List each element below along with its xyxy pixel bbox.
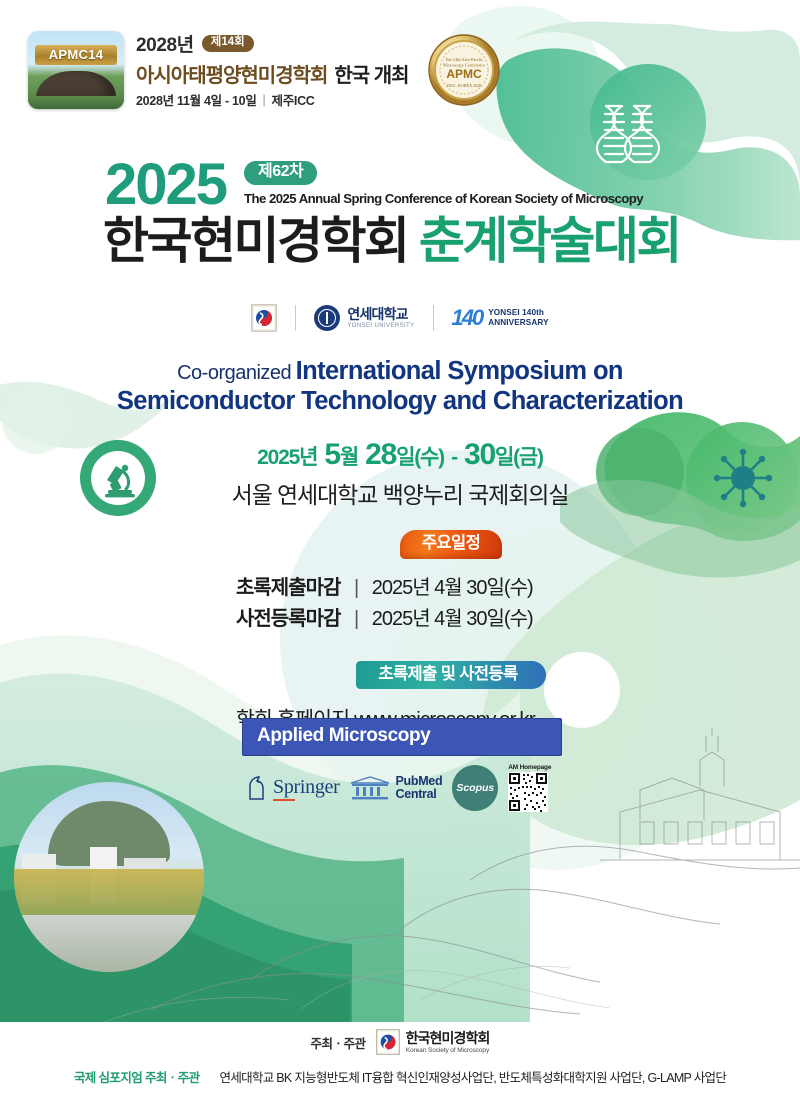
conference-edition-chip: 제62차 (244, 161, 317, 185)
footer-symposium-orgs: 연세대학교 BK 지능형반도체 IT융합 혁신인재양성사업단, 반도체특성화대학… (220, 1067, 727, 1086)
apmc14-edition-chip: 제14회 (202, 35, 254, 52)
yonsei-label-ko: 연세대학교 (347, 307, 414, 321)
event-date-start: 28 (365, 438, 396, 471)
footer-host-ko: 한국현미경학회 (406, 1031, 490, 1045)
springer-logo: Springer (246, 775, 339, 801)
yonsei-140th-logo: 140 YONSEI 140th ANNIVERSARY (452, 305, 549, 331)
conference-korean-title: 한국현미경학회 춘계학술대회 (0, 213, 800, 270)
apmc14-venue: 제주ICC (272, 90, 315, 109)
event-date-month: 5 (324, 438, 340, 471)
qr-block: AM Homepage (508, 764, 551, 812)
footer-symposium-label: 국제 심포지엄 주최ㆍ주관 (74, 1067, 200, 1086)
event-date-start-unit: 일(수) (396, 446, 444, 469)
footer-host-label: 주최ㆍ주관 (311, 1033, 366, 1052)
footer-host-en: Korean Society of Microscopy (406, 1047, 490, 1054)
conference-english-title: The 2025 Annual Spring Conference of Kor… (244, 191, 643, 206)
journal-index-logos: Springer PubMed (242, 764, 562, 812)
yonsei-140-number: 140 (452, 305, 483, 331)
conference-year: 2025 (105, 158, 226, 211)
qr-caption: AM Homepage (508, 764, 551, 771)
apmc14-society-name: 아시아태평양현미경학회 (136, 59, 327, 88)
campus-plaza (14, 915, 204, 972)
schedule-pill: 주요일정 (400, 530, 502, 559)
event-date-end: 30 (464, 438, 495, 471)
jeju-shore-shape (28, 96, 124, 109)
yonsei-140-line1: YONSEI 140th (488, 308, 548, 318)
springer-underline (273, 799, 295, 802)
symposium-line2: Semiconductor Technology and Characteriz… (0, 386, 800, 416)
schedule-row-value: 2025년 4월 30일(수) (372, 577, 533, 599)
apmc14-host: 한국 개최 (334, 59, 408, 88)
dna-helix-icon (597, 106, 659, 162)
apmc14-text-block: 2028년 제14회 아시아태평양현미경학회 한국 개최 2028년 11월 4… (136, 30, 409, 109)
schedule-row: 사전등록마감 | 2025년 4월 30일(수) (236, 604, 666, 635)
event-date-venue: 2025년 5월 28일(수) - 30일(금) 서울 연세대학교 백양누리 국… (0, 438, 800, 510)
ksm-logo-icon (376, 1029, 400, 1055)
schedule-row-divider: | (354, 608, 358, 630)
conference-poster: APMC14 2028년 제14회 아시아태평양현미경학회 한국 개최 2028… (0, 0, 800, 1102)
campus-photo (14, 782, 204, 972)
apmc14-thumbnail-label: APMC14 (35, 45, 117, 65)
yonsei-university-logo: 연세대학교 YONSEI UNIVERSITY (314, 305, 414, 331)
pubmed-temple-icon (349, 775, 391, 801)
footer-ksm-logo: 한국현미경학회 Korean Society of Microscopy (376, 1029, 490, 1055)
medal-top-text: The 14th Asia-Pacific (444, 57, 482, 62)
pubmed-line2: Central (395, 788, 442, 801)
medal-center-text: APMC (446, 67, 482, 81)
schedule-row-value: 2025년 4월 30일(수) (372, 608, 533, 630)
apmc14-year: 2028년 (136, 30, 194, 57)
society-name-korean: 한국현미경학회 (103, 213, 408, 269)
footer-symposium-row: 국제 심포지엄 주최ㆍ주관 연세대학교 BK 지능형반도체 IT융합 혁신인재양… (0, 1067, 800, 1086)
springer-horse-icon (246, 775, 268, 801)
event-date-year: 2025년 (257, 446, 317, 469)
organizer-logo-row: 연세대학교 YONSEI UNIVERSITY 140 YONSEI 140th… (0, 304, 800, 332)
main-title-block: 2025 제62차 The 2025 Annual Spring Confere… (0, 158, 800, 270)
pubmed-central-logo: PubMed Central (349, 775, 442, 801)
qr-code[interactable] (508, 772, 548, 812)
symposium-coorganized-label: Co-organized (177, 362, 291, 384)
apmc14-separator: | (263, 93, 266, 107)
apmc14-thumbnail: APMC14 (28, 31, 124, 109)
schedule-row: 초록제출마감 | 2025년 4월 30일(수) (236, 573, 666, 604)
event-name-korean: 춘계학술대회 (419, 213, 680, 269)
schedule-list: 초록제출마감 | 2025년 4월 30일(수) 사전등록마감 | 2025년 … (236, 573, 666, 635)
event-date-dash: - (451, 446, 457, 469)
springer-wordmark: Springer (273, 777, 339, 797)
apmc-medal-seal: The 14th Asia-Pacific Microscopy Confere… (427, 33, 501, 107)
journal-panel: Applied Microscopy Springer (242, 718, 562, 812)
poster-footer: 주최ㆍ주관 한국현미경학회 Korean Society of Microsco… (0, 1029, 800, 1086)
yonsei-label-en: YONSEI UNIVERSITY (347, 323, 414, 329)
ksm-logo-icon (251, 304, 277, 332)
yonsei-140-line2: ANNIVERSARY (488, 318, 548, 328)
schedule-row-label: 사전등록마감 (236, 608, 340, 630)
apmc14-dates: 2028년 11월 4일 - 10일 (136, 90, 257, 109)
campus-trees (14, 869, 204, 918)
symposium-line1: International Symposium on (296, 357, 623, 385)
yonsei-seal-icon (314, 305, 340, 331)
logo-divider-1 (295, 305, 296, 331)
journal-title: Applied Microscopy (242, 718, 562, 756)
logo-divider-2 (433, 305, 434, 331)
apmc14-banner[interactable]: APMC14 2028년 제14회 아시아태평양현미경학회 한국 개최 2028… (28, 30, 501, 109)
event-date-end-unit: 일(금) (495, 446, 543, 469)
schedule-row-label: 초록제출마감 (236, 577, 340, 599)
submission-pill: 초록제출 및 사전등록 (356, 661, 545, 690)
info-section: 주요일정 초록제출마감 | 2025년 4월 30일(수) 사전등록마감 | 2… (236, 530, 666, 732)
schedule-row-divider: | (354, 577, 358, 599)
event-date: 2025년 5월 28일(수) - 30일(금) (0, 438, 800, 471)
footer-host-row: 주최ㆍ주관 한국현미경학회 Korean Society of Microsco… (0, 1029, 800, 1055)
scopus-logo: Scopus (452, 765, 498, 811)
event-venue: 서울 연세대학교 백양누리 국제회의실 (0, 476, 800, 510)
event-date-month-unit: 월 (340, 446, 358, 469)
symposium-headline: Co-organized International Symposium on … (0, 356, 800, 416)
